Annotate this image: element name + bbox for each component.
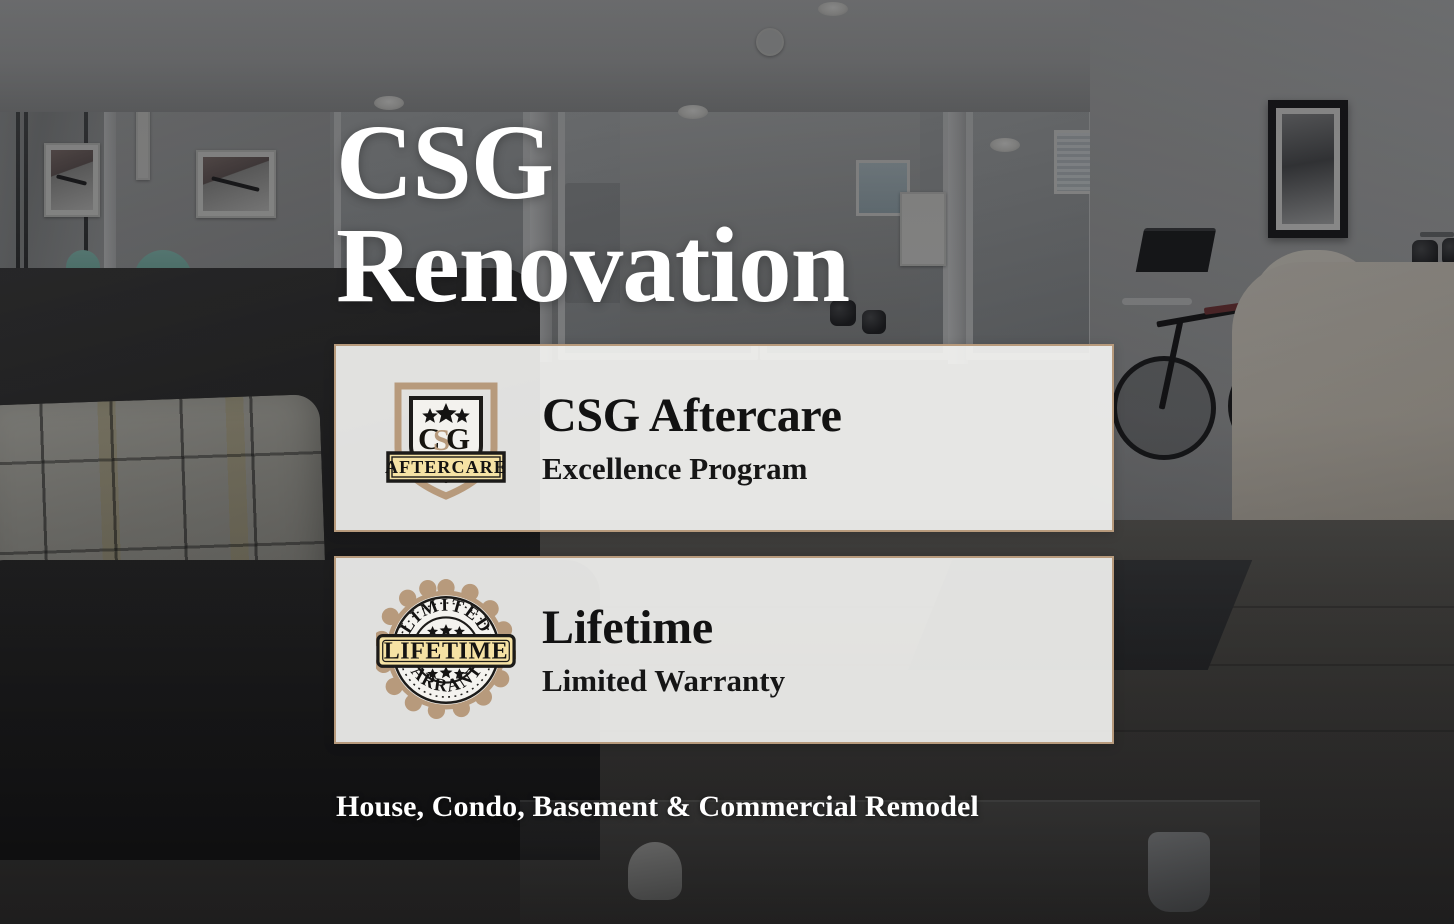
tagline: House, Condo, Basement & Commercial Remo… [336, 790, 979, 824]
card-text-block: CSG Aftercare Excellence Program [542, 390, 842, 486]
promo-slide: CSG Renovation [0, 0, 1454, 924]
badge-card-list: C S G AFTERCARE CSG Aftercare Excellence… [334, 344, 1114, 768]
card-subtitle: Excellence Program [542, 451, 842, 487]
svg-text:AFTERCARE: AFTERCARE [385, 457, 507, 477]
page-title: CSG Renovation [336, 112, 996, 317]
card-lifetime-warranty[interactable]: LIMITED WARRANTY [334, 556, 1114, 744]
card-title: Lifetime [542, 602, 785, 654]
lifetime-warranty-seal-icon: LIMITED WARRANTY [376, 580, 516, 720]
aftercare-shield-icon: C S G AFTERCARE [376, 368, 516, 508]
card-title: CSG Aftercare [542, 390, 842, 442]
card-subtitle: Limited Warranty [542, 663, 785, 699]
card-text-block: Lifetime Limited Warranty [542, 602, 785, 698]
svg-text:LIFETIME: LIFETIME [384, 639, 508, 665]
card-csg-aftercare[interactable]: C S G AFTERCARE CSG Aftercare Excellence… [334, 344, 1114, 532]
svg-text:G: G [446, 421, 470, 456]
slide-content: CSG Renovation [0, 0, 1454, 924]
